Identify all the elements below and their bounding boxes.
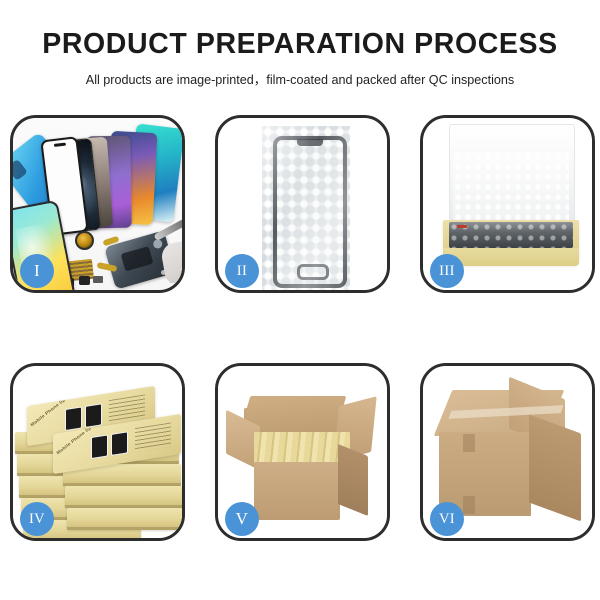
step-badge-3: III — [430, 254, 464, 288]
process-row-top: I II — [10, 115, 595, 293]
step-badge-5: V — [225, 502, 259, 536]
wrapped-screen-in-box — [449, 222, 573, 248]
component-chip-b — [79, 276, 90, 285]
box-lid-screen-art-b — [85, 403, 102, 428]
yellow-boxes-inside-carton — [254, 432, 350, 464]
step-badge-4: IV — [20, 502, 54, 536]
step-panel-5[interactable]: V — [215, 363, 390, 541]
carton-front-wall — [254, 462, 340, 520]
home-button-outline — [297, 264, 329, 280]
step-badge-2: II — [225, 254, 259, 288]
red-label-mark — [457, 225, 467, 228]
box-lid-screen-art-a — [65, 406, 82, 431]
step-panel-2[interactable]: II — [215, 115, 390, 293]
process-steps-grid: I II — [10, 115, 595, 541]
step-panel-4[interactable]: Mobile Phone Spare Parts Mobile Phone Sp… — [10, 363, 185, 541]
stacked-box-9 — [65, 486, 182, 508]
carton-handle-notch-bottom — [463, 496, 475, 514]
page-title: PRODUCT PREPARATION PROCESS — [0, 0, 600, 60]
sim-tray-part — [93, 276, 103, 283]
step-badge-1: I — [20, 254, 54, 288]
product-preparation-infographic: PRODUCT PREPARATION PROCESS All products… — [0, 0, 600, 600]
box-lid-spec-lines-front — [135, 422, 171, 452]
kraft-box-front-lip — [443, 248, 579, 266]
header: PRODUCT PREPARATION PROCESS All products… — [0, 0, 600, 88]
sealed-carton-side-wall — [529, 415, 581, 522]
carton-side-wall — [338, 444, 368, 516]
step-panel-1[interactable]: I — [10, 115, 185, 293]
bubble-wrap-sheet — [262, 126, 350, 290]
box-lid-screen-art-c — [91, 434, 108, 459]
wrapped-phone-screen — [273, 136, 347, 288]
stacked-box-10 — [67, 508, 182, 530]
page-subtitle: All products are image-printed，film-coat… — [0, 60, 600, 88]
step-panel-6[interactable]: VI — [420, 363, 595, 541]
white-foam-liner — [453, 152, 569, 222]
carton-handle-notch-top — [463, 434, 475, 452]
process-row-bottom: Mobile Phone Spare Parts Mobile Phone Sp… — [10, 363, 595, 541]
step-panel-3[interactable]: III — [420, 115, 595, 293]
camera-module-part — [75, 231, 94, 250]
box-lid-screen-art-d — [111, 431, 128, 456]
step-badge-6: VI — [430, 502, 464, 536]
